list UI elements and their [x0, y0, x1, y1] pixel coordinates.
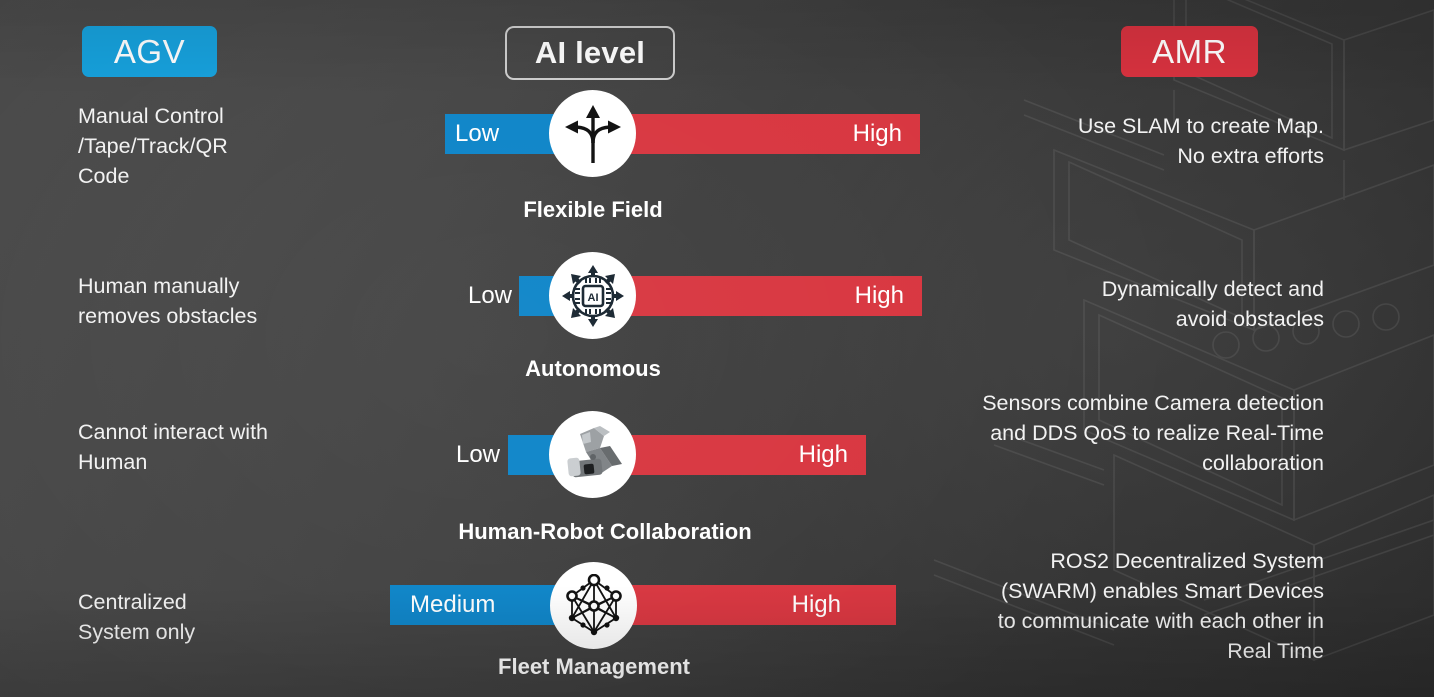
- agv-description-4: Centralized System only: [78, 587, 408, 647]
- row-caption-3: Human-Robot Collaboration: [405, 519, 805, 545]
- three-way-arrow-knob: [549, 90, 636, 177]
- amr-description-3: Sensors combine Camera detection and DDS…: [894, 388, 1324, 478]
- level-bar-3-high-label: High: [799, 441, 848, 469]
- agv-description-3: Cannot interact with Human: [78, 417, 408, 477]
- robot-arm-knob: [549, 411, 636, 498]
- row-caption-2: Autonomous: [393, 356, 793, 382]
- ai-chip-icon: AI: [562, 265, 624, 327]
- svg-text:AI: AI: [587, 292, 598, 304]
- row-caption-1: Flexible Field: [393, 197, 793, 223]
- badge-ai-level-label: AI level: [535, 35, 645, 71]
- level-bar-4-low-segment: Medium: [390, 585, 558, 625]
- badge-agv-label: AGV: [114, 33, 185, 71]
- level-bar-2-low-label: Low: [400, 276, 512, 316]
- amr-description-4: ROS2 Decentralized System (SWARM) enable…: [894, 546, 1324, 666]
- level-bar-1-low-label: Low: [455, 120, 499, 148]
- badge-amr: AMR: [1121, 26, 1258, 77]
- robot-arm-icon: [560, 424, 626, 486]
- badge-amr-label: AMR: [1152, 33, 1227, 71]
- agv-description-1: Manual Control /Tape/Track/QR Code: [78, 101, 408, 191]
- level-bar-4: Medium High: [390, 585, 896, 625]
- infographic-canvas: AGV AI level AMR Manual Control /Tape/Tr…: [0, 0, 1434, 697]
- amr-description-1: Use SLAM to create Map. No extra efforts: [894, 111, 1324, 171]
- level-bar-1: Low High: [445, 114, 920, 154]
- level-bar-3-low-label: Low: [388, 435, 500, 475]
- row-caption-4: Fleet Management: [394, 654, 794, 680]
- level-bar-1-high-segment: High: [595, 114, 920, 154]
- network-mesh-knob: [550, 562, 637, 649]
- amr-description-2: Dynamically detect and avoid obstacles: [894, 274, 1324, 334]
- level-bar-4-high-label: High: [792, 591, 841, 619]
- agv-description-2: Human manually removes obstacles: [78, 271, 408, 331]
- level-bar-4-low-label: Medium: [410, 591, 495, 619]
- badge-agv: AGV: [82, 26, 217, 77]
- ai-chip-knob: AI: [549, 252, 636, 339]
- badge-ai-level: AI level: [505, 26, 675, 80]
- network-mesh-icon: [563, 574, 625, 638]
- three-way-arrow-icon: [563, 103, 623, 165]
